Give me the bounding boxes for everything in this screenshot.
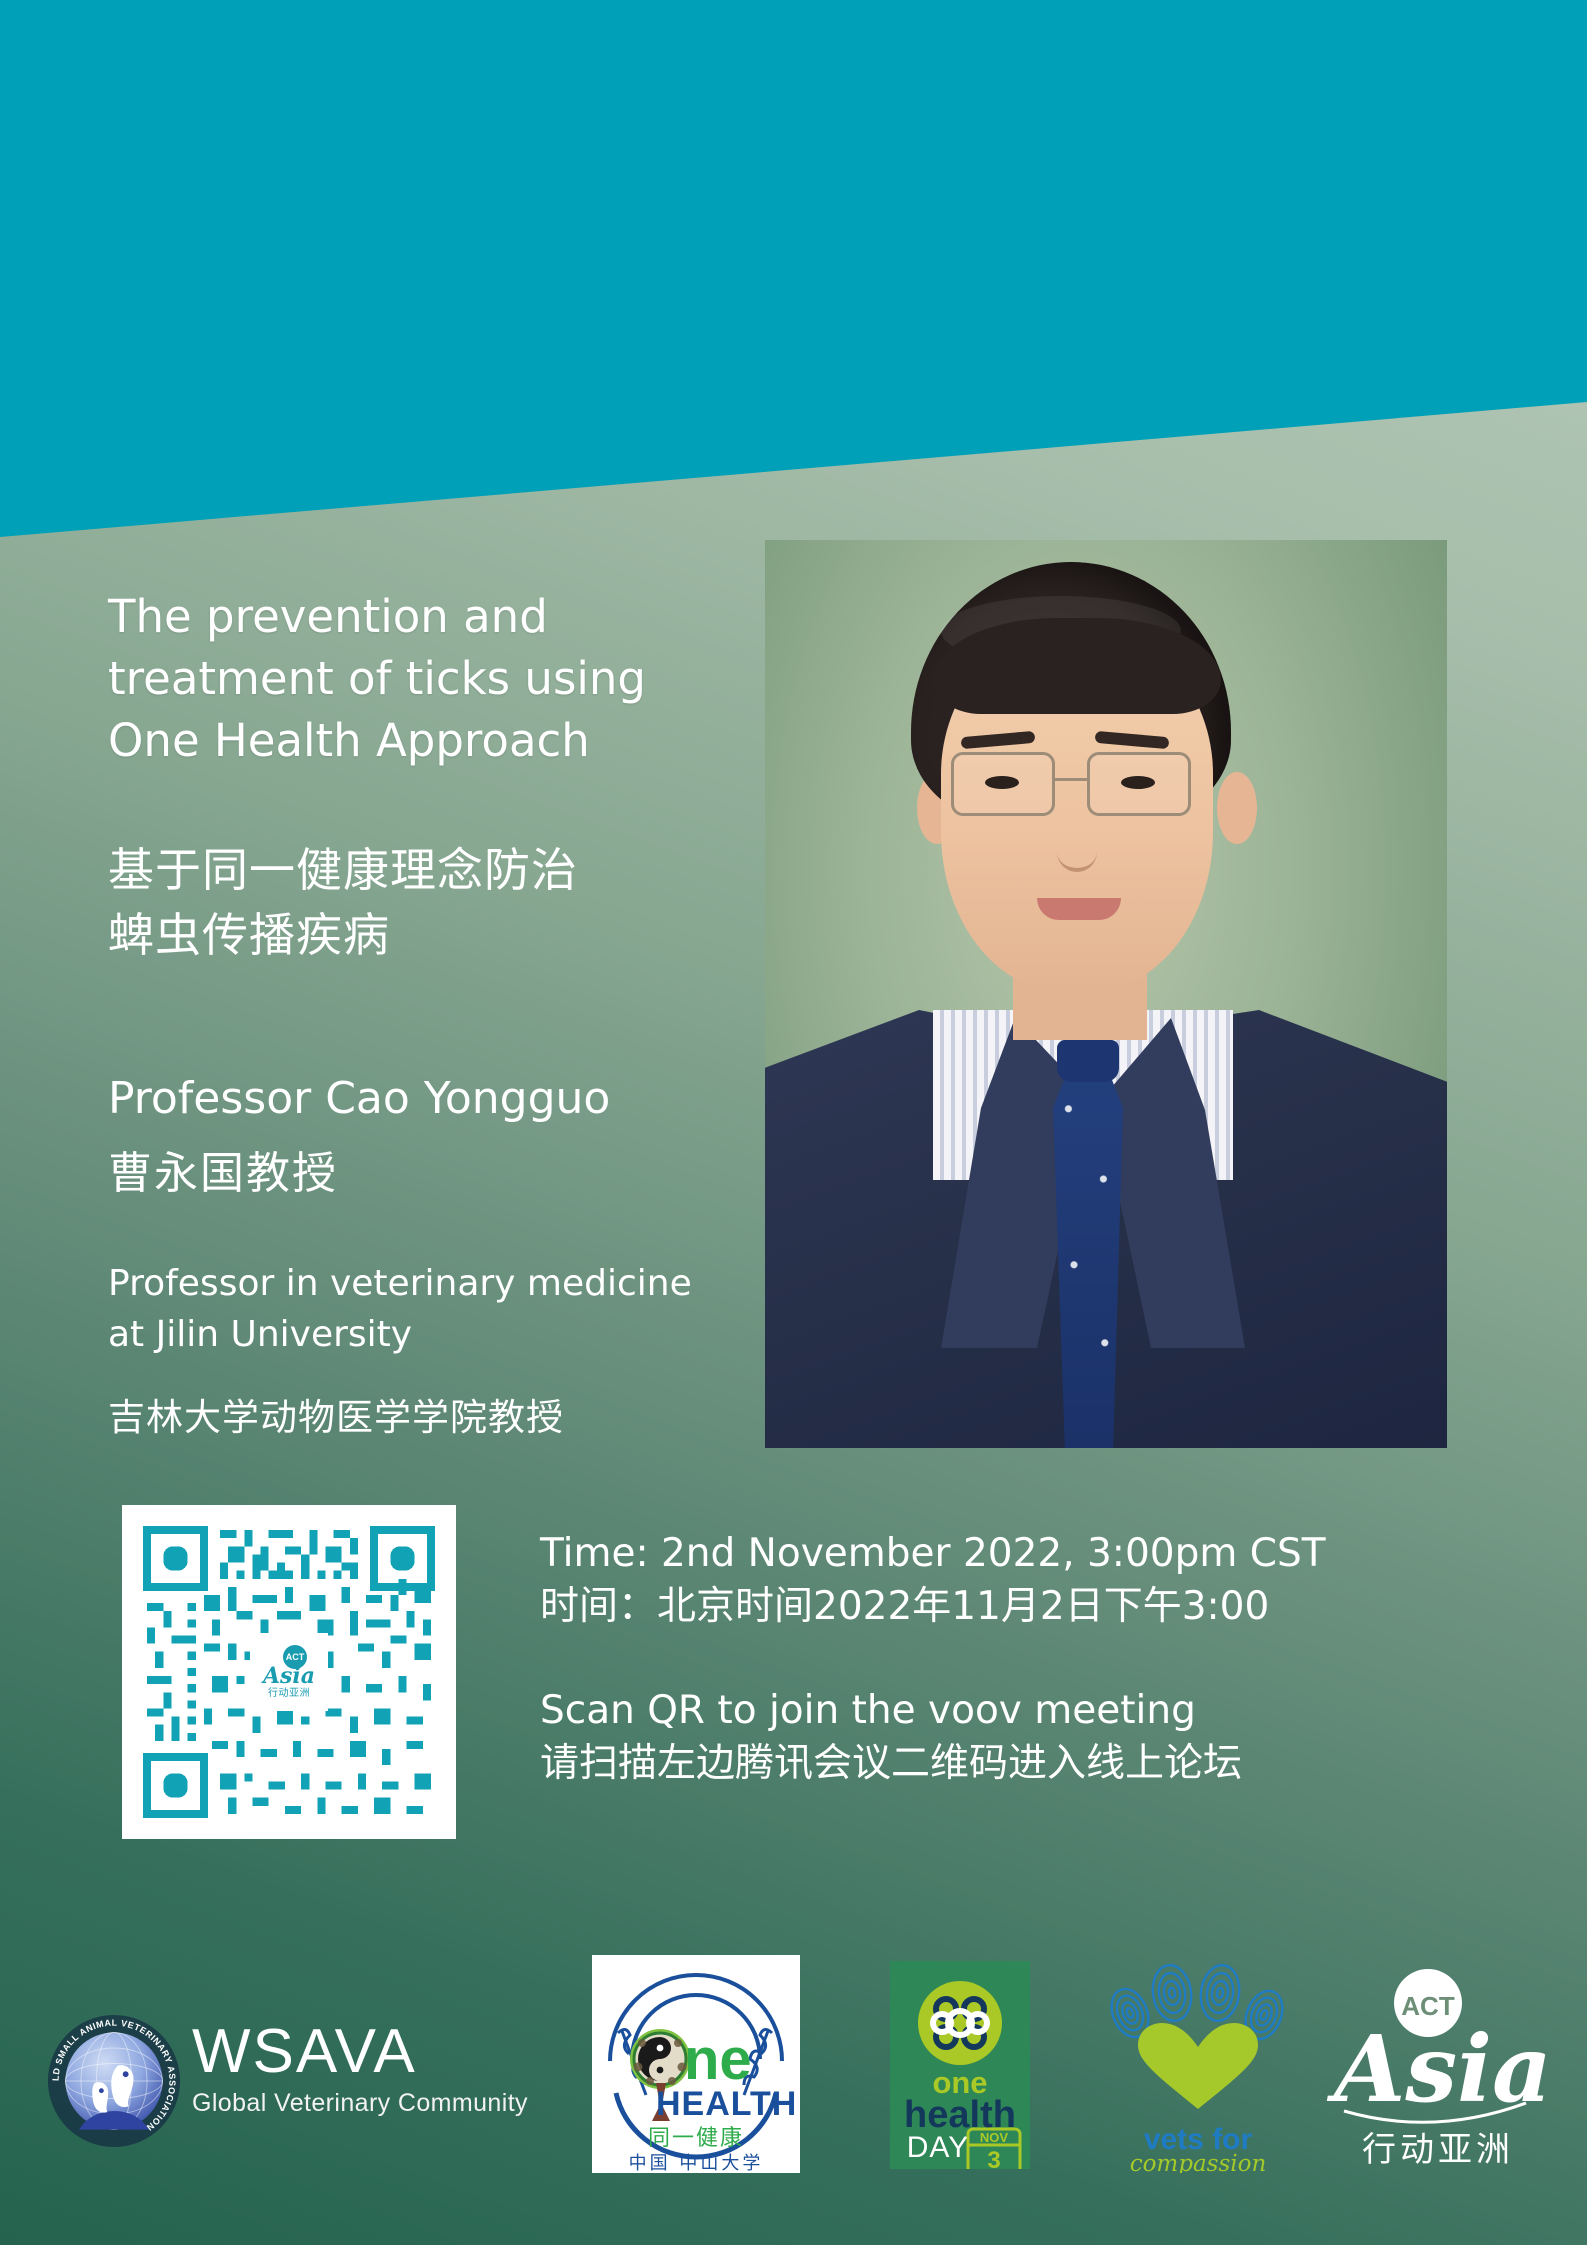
portrait-eye-left xyxy=(985,776,1019,789)
details-spacer xyxy=(540,1633,1540,1685)
webinar-poster: One Health Veterinary Webinar 同一健康线上兽医论坛… xyxy=(0,0,1587,2245)
portrait-glasses-bridge xyxy=(1055,778,1087,781)
svg-text:NOV: NOV xyxy=(980,2130,1009,2145)
qr-center-logo: ACT Asia 行动亚洲 xyxy=(250,1633,328,1711)
portrait-mouth xyxy=(1037,898,1121,920)
header-band xyxy=(0,0,1587,560)
qr-code[interactable]: ACT Asia 行动亚洲 xyxy=(122,1505,456,1839)
speaker-name-english: Professor Cao Yongguo xyxy=(108,1073,610,1124)
logo-one-health: ne HEALTH 同一健康 中国 中山大学 xyxy=(592,1955,800,2173)
event-time-chinese: 时间：北京时间2022年11月2日下午3:00 xyxy=(540,1581,1540,1634)
svg-text:DAY: DAY xyxy=(907,2131,969,2164)
speaker-role-english: Professor in veterinary medicine at Jili… xyxy=(108,1258,708,1360)
portrait-ear-right xyxy=(1217,772,1257,844)
portrait-tie-knot xyxy=(1057,1040,1119,1082)
portrait-fringe xyxy=(933,618,1221,714)
act-asia-icon: ACT Asia 行动亚洲 xyxy=(1320,1955,1556,2173)
svg-text:中国 中山大学: 中国 中山大学 xyxy=(629,2153,764,2173)
paw-heart-icon: vets for compassion xyxy=(1098,1957,1298,2173)
wsava-tagline: Global Veterinary Community xyxy=(192,2089,528,2118)
event-details: Time: 2nd November 2022, 3:00pm CST 时间：北… xyxy=(540,1528,1540,1791)
svg-text:3: 3 xyxy=(987,2147,1000,2169)
wsava-wordmark: WSAVA Global Veterinary Community xyxy=(192,2021,528,2118)
svg-text:ne: ne xyxy=(684,2027,752,2092)
speaker-role-chinese: 吉林大学动物医学学院教授 xyxy=(108,1387,564,1441)
talk-title-chinese-line-1: 基于同一健康理念防治 xyxy=(108,838,768,903)
logo-one-health-day: one health DAY NOV 3 xyxy=(890,1961,1030,2169)
svg-text:行动亚洲: 行动亚洲 xyxy=(1362,2130,1514,2170)
logo-act-asia: ACT Asia 行动亚洲 xyxy=(1320,1955,1556,2173)
partner-logo-strip: THE WORLD SMALL ANIMAL VETERINARY ASSOCI… xyxy=(0,1939,1587,2199)
scan-instruction-english: Scan QR to join the voov meeting xyxy=(540,1685,1540,1738)
event-time-english: Time: 2nd November 2022, 3:00pm CST xyxy=(540,1528,1540,1581)
one-health-day-icon: one health DAY NOV 3 xyxy=(890,1961,1030,2169)
portrait-eye-right xyxy=(1121,776,1155,789)
wsava-globe-icon: THE WORLD SMALL ANIMAL VETERINARY ASSOCI… xyxy=(46,2013,182,2149)
svg-text:compassion: compassion xyxy=(1130,2151,1267,2173)
logo-wsava: THE WORLD SMALL ANIMAL VETERINARY ASSOCI… xyxy=(46,2001,546,2161)
speaker-name-chinese: 曹永国教授 xyxy=(108,1137,338,1201)
svg-text:HEALTH: HEALTH xyxy=(656,2085,797,2123)
talk-title-chinese-line-2: 蜱虫传播疾病 xyxy=(108,903,768,968)
portrait-necktie xyxy=(1053,1062,1123,1448)
scan-instruction-chinese: 请扫描左边腾讯会议二维码进入线上论坛 xyxy=(540,1738,1540,1791)
svg-text:同一健康: 同一健康 xyxy=(648,2126,744,2151)
logo-vets-for-compassion: vets for compassion xyxy=(1098,1957,1298,2173)
qr-logo-wordmark: Asia xyxy=(263,1665,315,1687)
speaker-portrait xyxy=(765,540,1447,1448)
talk-title-english: The prevention and treatment of ticks us… xyxy=(108,586,748,772)
qr-logo-chinese: 行动亚洲 xyxy=(268,1689,310,1699)
one-health-emblem-icon: ne HEALTH 同一健康 中国 中山大学 xyxy=(592,1955,800,2173)
wsava-name: WSAVA xyxy=(192,2021,528,2083)
talk-title-chinese: 基于同一健康理念防治 蜱虫传播疾病 xyxy=(108,838,768,969)
portrait-nose xyxy=(1057,826,1097,872)
